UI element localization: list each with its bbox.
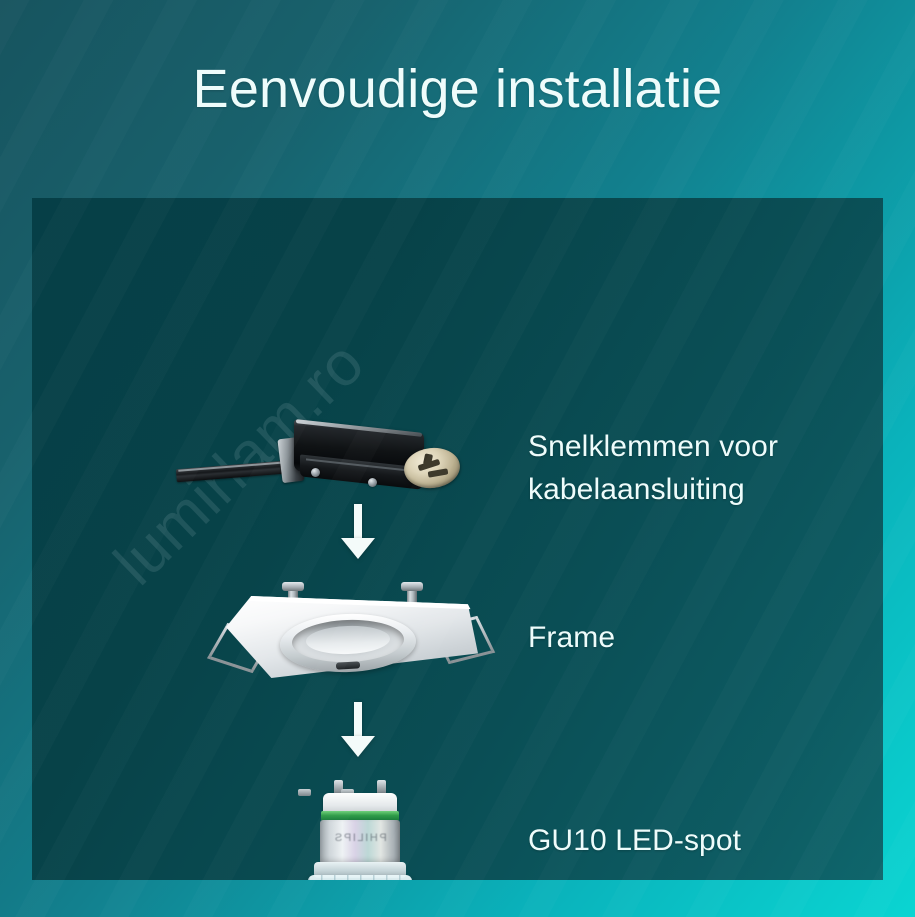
diagram-panel: lumirlam.ro xyxy=(32,198,883,880)
product-infographic-canvas: Eenvoudige installatie lumirlam.ro xyxy=(0,0,915,917)
arrow-down-icon xyxy=(341,702,375,758)
gu10-reflector xyxy=(308,875,412,880)
gu10-pin-cap-left xyxy=(298,789,311,796)
step-label-frame: Frame xyxy=(528,617,615,660)
gu10-lamp-illustration: PHILIPS xyxy=(296,780,424,880)
arrow-shaft xyxy=(354,504,362,540)
step-label-quick-clamps: Snelklemmen voor kabelaansluiting xyxy=(528,426,828,511)
arrow-shaft xyxy=(354,702,362,738)
screw-icon xyxy=(368,478,377,487)
arrow-down-icon xyxy=(341,504,375,560)
gu10-pin-right xyxy=(377,780,386,794)
mounting-screw-head xyxy=(401,582,423,591)
arrow-head xyxy=(341,538,375,559)
downlight-frame-illustration xyxy=(204,570,504,698)
arrow-head xyxy=(341,736,375,757)
brand-text: PHILIPS xyxy=(320,832,400,844)
step-label-gu10-led-spot: GU10 LED-spot xyxy=(528,820,741,863)
connector-block-illustration xyxy=(172,420,412,506)
gu10-pins xyxy=(330,780,390,794)
page-title: Eenvoudige installatie xyxy=(0,60,915,119)
frame-latch-slot xyxy=(336,661,360,669)
reflector-facets xyxy=(308,875,412,880)
mounting-screw-head xyxy=(282,582,304,591)
screw-icon xyxy=(311,468,320,477)
